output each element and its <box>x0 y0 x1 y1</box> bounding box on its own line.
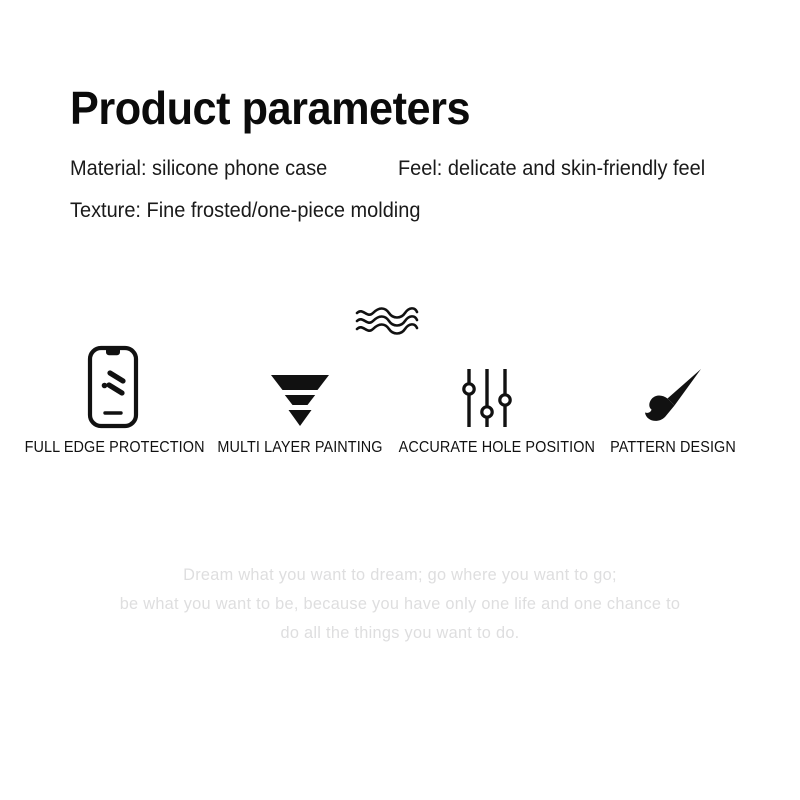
sliders-icon <box>459 367 515 434</box>
icon-slot <box>205 292 395 440</box>
spec-list: Material: silicone phone case Feel: deli… <box>70 154 770 238</box>
quote-line: Dream what you want to dream; go where y… <box>16 560 784 589</box>
product-parameters-page: Product parameters Material: silicone ph… <box>0 0 800 800</box>
page-title: Product parameters <box>70 82 728 134</box>
phone-case-icon <box>87 345 139 434</box>
feature-item-full-edge-protection[interactable]: FULL EDGE PROTECTION <box>18 292 208 472</box>
feature-label: ACCURATE HOLE POSITION <box>399 438 576 458</box>
feature-item-multi-layer-painting[interactable]: MULTI LAYER PAINTING <box>205 292 395 472</box>
paintbrush-icon <box>641 367 705 434</box>
spec-material: Material: silicone phone case <box>70 154 327 184</box>
feature-label: PATTERN DESIGN <box>585 438 762 458</box>
feature-item-accurate-hole-position[interactable]: ACCURATE HOLE POSITION <box>392 292 582 472</box>
feature-label: FULL EDGE PROTECTION <box>25 438 202 458</box>
icon-slot <box>18 292 208 440</box>
feature-strip: FULL EDGE PROTECTION MULTI LAYER PAINTIN… <box>0 292 800 472</box>
quote-line: be what you want to be, because you have… <box>16 589 784 618</box>
spec-texture: Texture: Fine frosted/one-piece molding <box>70 196 420 226</box>
spec-feel: Feel: delicate and skin-friendly feel <box>398 154 705 184</box>
feature-label: MULTI LAYER PAINTING <box>212 438 389 458</box>
spec-row: Material: silicone phone case Feel: deli… <box>70 154 770 196</box>
feature-item-pattern-design[interactable]: PATTERN DESIGN <box>578 292 768 472</box>
header-block: Product parameters Material: silicone ph… <box>70 82 770 238</box>
icon-slot <box>578 292 768 440</box>
quote-block: Dream what you want to dream; go where y… <box>0 560 800 647</box>
layered-triangle-icon <box>269 371 331 434</box>
quote-line: do all the things you want to do. <box>16 618 784 647</box>
icon-slot <box>392 292 582 440</box>
spec-row: Texture: Fine frosted/one-piece molding <box>70 196 770 238</box>
